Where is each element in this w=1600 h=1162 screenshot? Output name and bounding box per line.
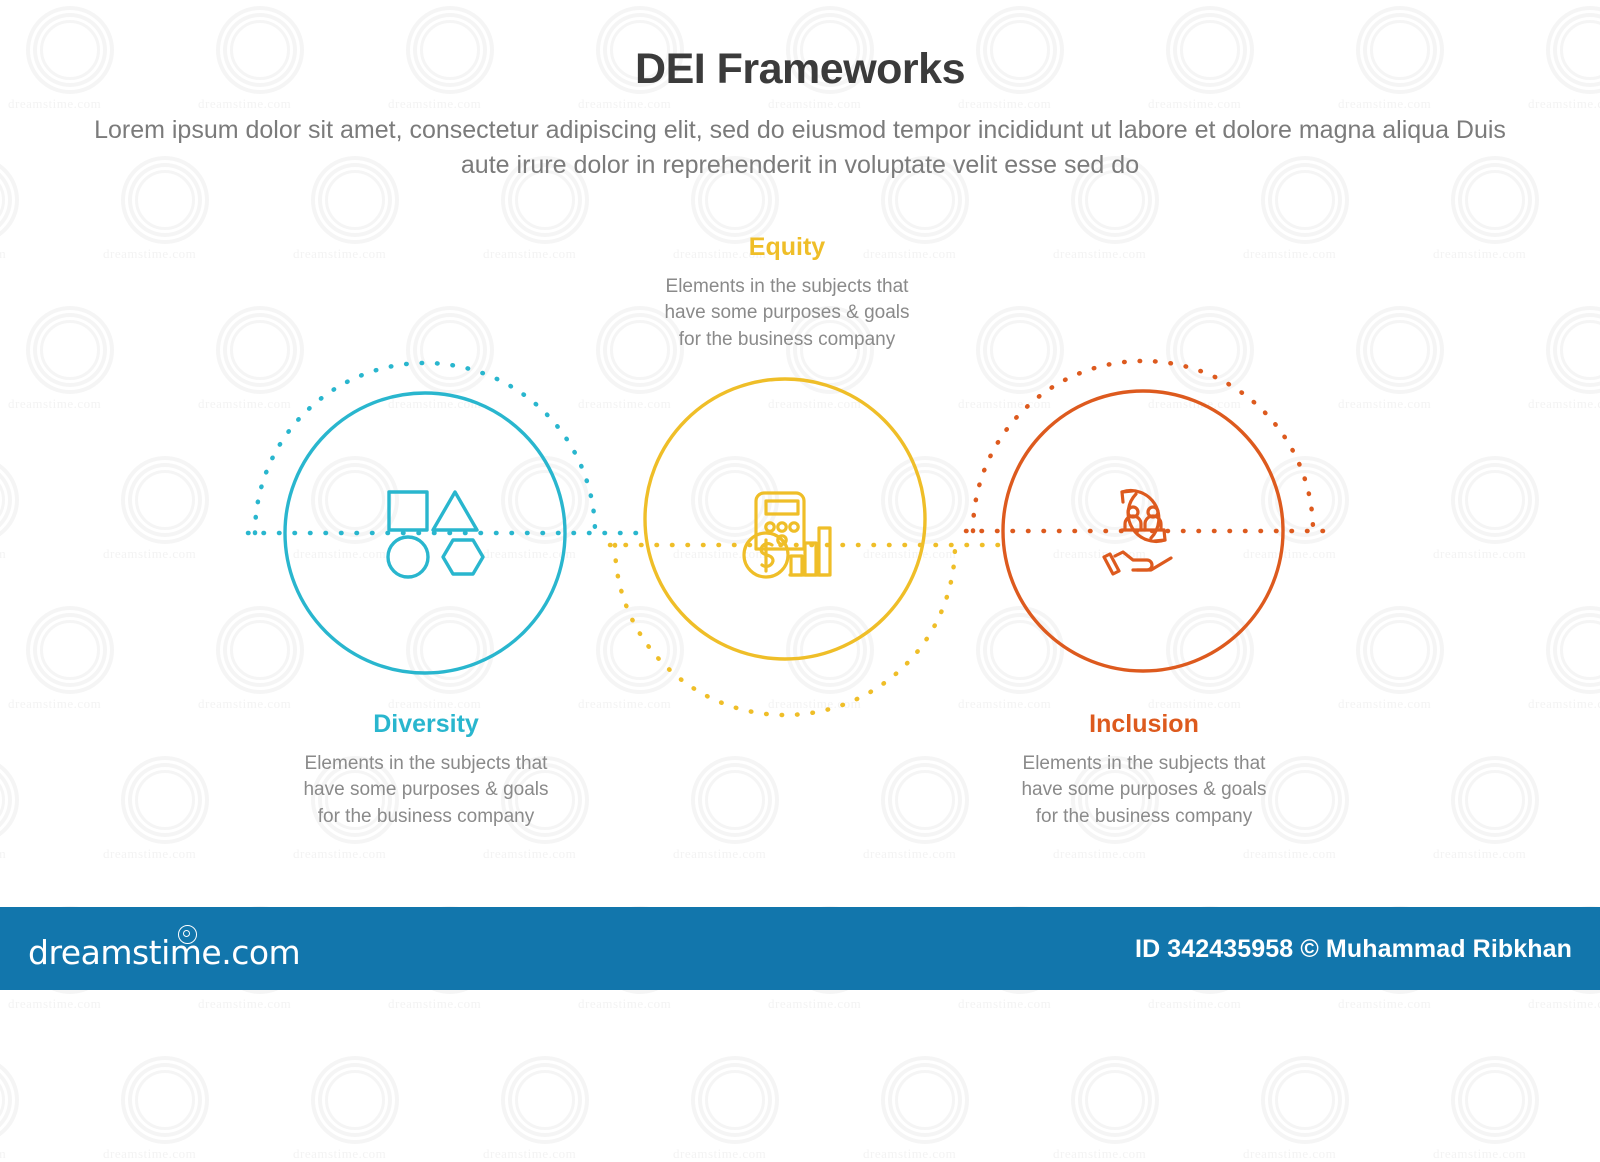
header: DEI Frameworks Lorem ipsum dolor sit ame… [0, 0, 1600, 182]
watermark-spiral [325, 1070, 385, 1130]
watermark-text: dreamstime.com [103, 1146, 196, 1162]
watermark-spiral [135, 1070, 195, 1130]
watermark-spiral [1465, 1070, 1525, 1130]
footer-credit: ID 342435958 © Muhammad Ribkhan [1135, 935, 1572, 964]
node-desc-equity: Elements in the subjects that have some … [622, 274, 952, 355]
watermark-spiral [515, 1070, 575, 1130]
node-group-diversity[interactable] [248, 363, 640, 673]
page-title: DEI Frameworks [0, 46, 1600, 93]
dotted-arc-inclusion [973, 361, 1313, 531]
people-hand-cycle-icon [1104, 491, 1171, 574]
node-text-diversity: Diversity Elements in the subjects that … [261, 711, 591, 831]
node-text-equity: Equity Elements in the subjects that hav… [622, 234, 952, 354]
watermark-text: dreamstime.com [863, 1146, 956, 1162]
dotted-arc-equity [615, 545, 955, 715]
watermark-text: dreamstime.com [1528, 996, 1600, 1012]
node-group-equity[interactable] [610, 379, 1000, 715]
watermark-spiral [705, 1070, 765, 1130]
watermark-text: dreamstime.com [293, 1146, 386, 1162]
watermark-text: dreamstime.com [8, 996, 101, 1012]
watermark-spiral [1275, 1070, 1335, 1130]
watermark-text: dreamstime.com [198, 996, 291, 1012]
watermark-text: dreamstime.com [768, 996, 861, 1012]
watermark-text: dreamstime.com [0, 1146, 6, 1162]
calculator-finance-icon [744, 493, 830, 577]
watermark-text: dreamstime.com [1148, 996, 1241, 1012]
watermark-spiral [0, 1070, 5, 1130]
page-subtitle: Lorem ipsum dolor sit amet, consectetur … [80, 113, 1520, 182]
node-title-equity: Equity [622, 234, 952, 262]
node-title-diversity: Diversity [261, 711, 591, 739]
node-desc-inclusion: Elements in the subjects that have some … [979, 751, 1309, 832]
watermark-text: dreamstime.com [958, 996, 1051, 1012]
watermark-text: dreamstime.com [578, 996, 671, 1012]
node-desc-diversity: Elements in the subjects that have some … [261, 751, 591, 832]
node-text-inclusion: Inclusion Elements in the subjects that … [979, 711, 1309, 831]
watermark-text: dreamstime.com [1338, 996, 1431, 1012]
footer-bar: dreamstime.com ID 342435958 © Muhammad R… [0, 907, 1600, 990]
watermark-text: dreamstime.com [1053, 1146, 1146, 1162]
node-group-inclusion[interactable] [966, 361, 1325, 671]
circle-equity[interactable] [645, 379, 925, 659]
watermark-text: dreamstime.com [483, 1146, 576, 1162]
watermark-spiral [1085, 1070, 1145, 1130]
dreamstime-logo-text: dreamstime.com [28, 936, 300, 969]
watermark-text: dreamstime.com [1433, 1146, 1526, 1162]
dreamstime-logo[interactable]: dreamstime.com [28, 929, 300, 969]
watermark-text: dreamstime.com [388, 996, 481, 1012]
node-title-inclusion: Inclusion [979, 711, 1309, 739]
dotted-arc-diversity [255, 363, 595, 533]
spiral-icon [178, 925, 197, 944]
watermark-text: dreamstime.com [1243, 1146, 1336, 1162]
watermark-text: dreamstime.com [673, 1146, 766, 1162]
watermark-spiral [895, 1070, 955, 1130]
